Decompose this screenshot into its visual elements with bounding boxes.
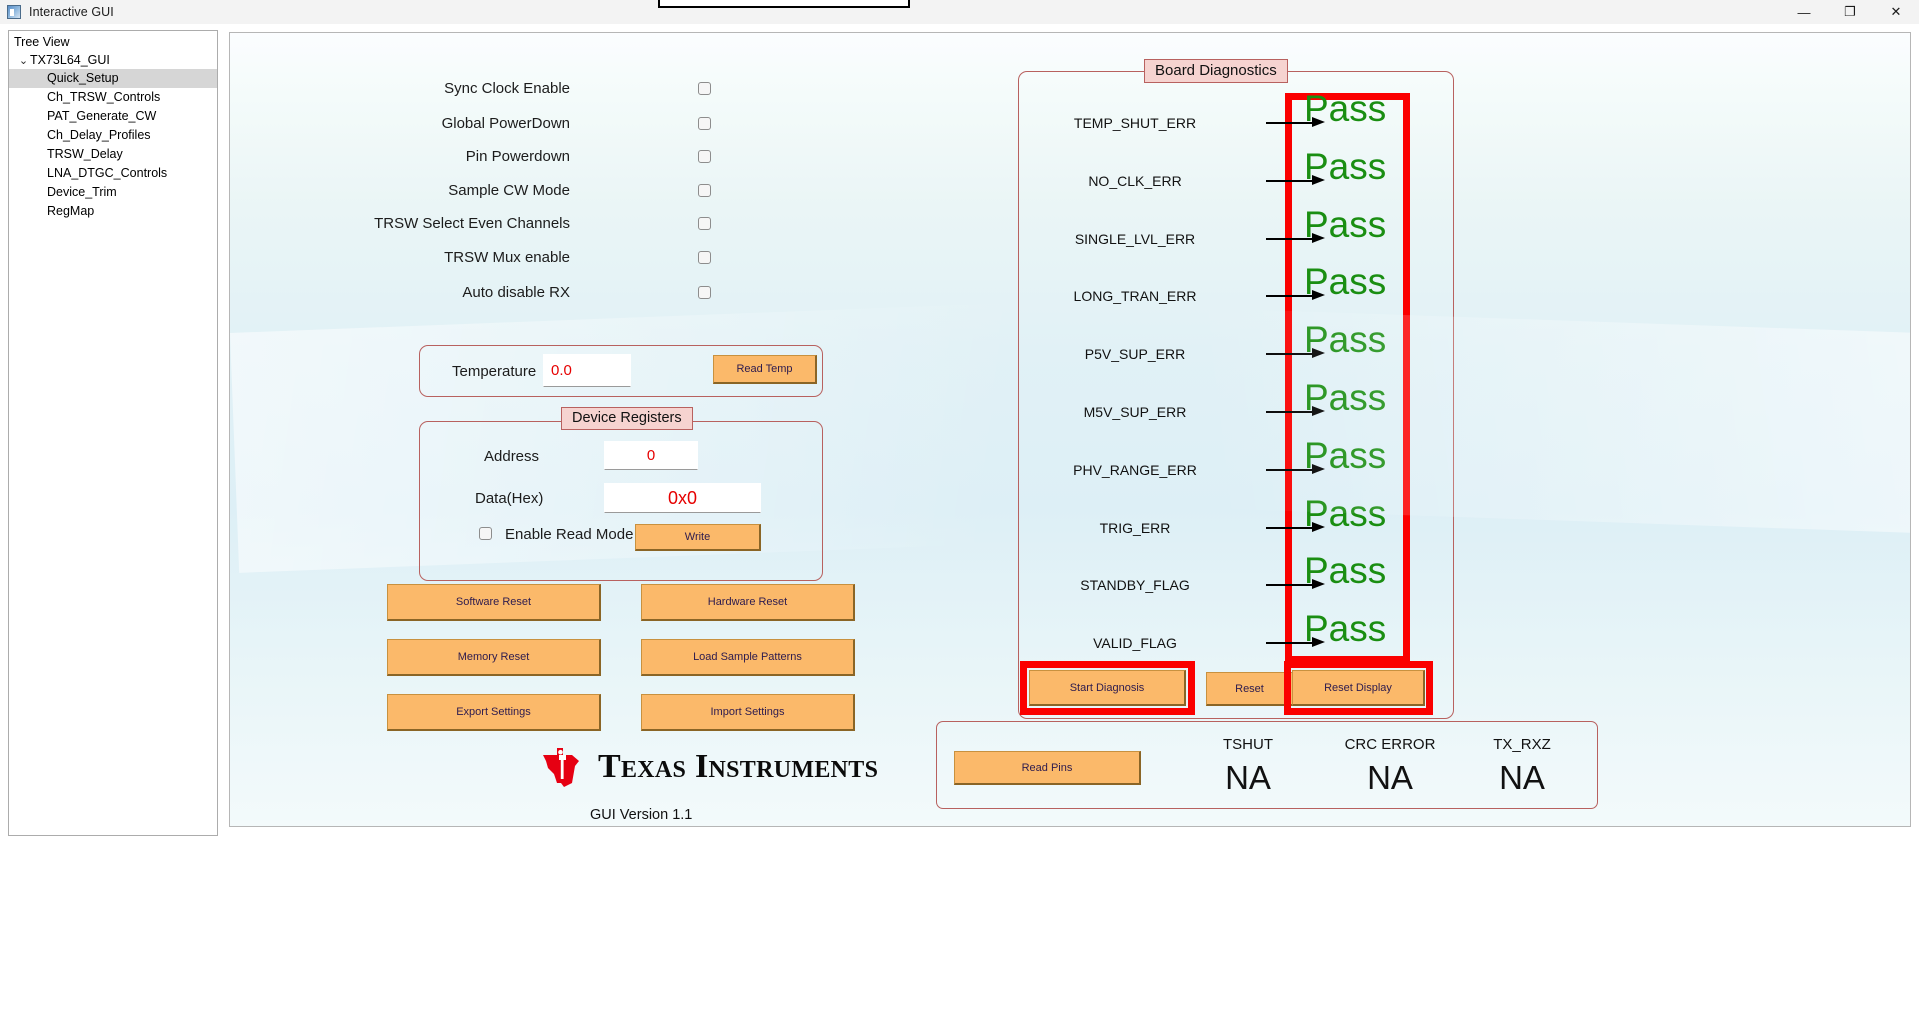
checkbox-label: Sync Clock Enable (230, 80, 570, 97)
diagnostic-name: NO_CLK_ERR (1020, 173, 1250, 189)
address-label: Address (484, 448, 539, 465)
diagnostic-name: VALID_FLAG (1020, 635, 1250, 651)
device-registers-group-label: Device Registers (561, 407, 693, 430)
diagnostic-name: P5V_SUP_ERR (1020, 346, 1250, 362)
checkbox-sample-cw-mode[interactable] (698, 184, 711, 197)
reset-display-button[interactable]: Reset Display (1292, 670, 1425, 706)
sidebar-item-device-trim[interactable]: Device_Trim (9, 183, 217, 202)
checkbox-auto-disable-rx[interactable] (698, 286, 711, 299)
gui-version-label: GUI Version 1.1 (590, 807, 692, 823)
diagnostic-name: M5V_SUP_ERR (1020, 404, 1250, 420)
ti-logo: Texas Instruments (538, 746, 878, 788)
reset-button[interactable]: Reset (1206, 672, 1294, 706)
main-content-panel: Sync Clock EnableGlobal PowerDownPin Pow… (229, 32, 1911, 827)
diagnostic-status: Pass (1304, 379, 1386, 416)
pin-label: CRC ERROR (1320, 736, 1460, 753)
ti-wordmark: Texas Instruments (598, 748, 878, 786)
checkbox-label: TRSW Select Even Channels (230, 215, 570, 232)
pin-value: NA (1452, 761, 1592, 794)
diagnostic-row: VALID_FLAG (1020, 632, 1328, 654)
checkbox-trsw-mux-enable[interactable] (698, 251, 711, 264)
pin-label: TX_RXZ (1452, 736, 1592, 753)
diagnostic-status: Pass (1304, 610, 1386, 647)
tree-root-node[interactable]: ⌄ TX73L64_GUI (9, 51, 217, 69)
checkbox-row: Sync Clock Enable (230, 79, 711, 97)
diagnostic-name: TRIG_ERR (1020, 520, 1250, 536)
checkbox-row: TRSW Select Even Channels (230, 214, 711, 232)
window-title: Interactive GUI (29, 5, 114, 19)
board-diagnostics-group-label: Board Diagnostics (1144, 59, 1288, 83)
sidebar-item-ch-delay-profiles[interactable]: Ch_Delay_Profiles (9, 126, 217, 145)
checkbox-label: Pin Powerdown (230, 148, 570, 165)
read-temp-button[interactable]: Read Temp (713, 355, 817, 384)
diagnostic-name: STANDBY_FLAG (1020, 577, 1250, 593)
checkbox-row: Pin Powerdown (230, 147, 711, 165)
tree-root-label: TX73L64_GUI (30, 53, 110, 67)
minimize-icon[interactable]: — (1781, 0, 1827, 24)
diagnostic-status: Pass (1304, 90, 1386, 127)
address-input[interactable]: 0 (604, 441, 698, 470)
checkbox-row: TRSW Mux enable (230, 248, 711, 266)
diagnostic-row: PHV_RANGE_ERR (1020, 459, 1328, 481)
chevron-down-icon[interactable]: ⌄ (17, 54, 30, 67)
diagnostic-name: LONG_TRAN_ERR (1020, 288, 1250, 304)
checkbox-label: Auto disable RX (230, 284, 570, 301)
diagnostic-status: Pass (1304, 437, 1386, 474)
load-sample-patterns-button[interactable]: Load Sample Patterns (641, 639, 855, 676)
sidebar-item-trsw-delay[interactable]: TRSW_Delay (9, 145, 217, 164)
diagnostic-name: SINGLE_LVL_ERR (1020, 231, 1250, 247)
clipped-top-frame (658, 0, 910, 8)
memory-reset-button[interactable]: Memory Reset (387, 639, 601, 676)
checkbox-row: Global PowerDown (230, 114, 711, 132)
data-hex-input[interactable]: 0x0 (604, 483, 761, 513)
checkbox-trsw-select-even-channels[interactable] (698, 217, 711, 230)
checkbox-label: TRSW Mux enable (230, 249, 570, 266)
pin-value: NA (1178, 761, 1318, 794)
diagnostic-status: Pass (1304, 263, 1386, 300)
write-button[interactable]: Write (635, 524, 761, 551)
sidebar-item-regmap[interactable]: RegMap (9, 202, 217, 221)
diagnostic-row: TRIG_ERR (1020, 517, 1328, 539)
app-icon (7, 5, 21, 19)
diagnostic-row: P5V_SUP_ERR (1020, 343, 1328, 365)
import-settings-button[interactable]: Import Settings (641, 694, 855, 731)
diagnostic-row: NO_CLK_ERR (1020, 170, 1328, 192)
checkbox-pin-powerdown[interactable] (698, 150, 711, 163)
close-icon[interactable]: ✕ (1873, 0, 1919, 24)
maximize-icon[interactable]: ❐ (1827, 0, 1873, 24)
read-pins-button[interactable]: Read Pins (954, 751, 1141, 785)
checkbox-row: Sample CW Mode (230, 181, 711, 199)
tree-view-header: Tree View (9, 33, 217, 51)
tree-item-list: Quick_SetupCh_TRSW_ControlsPAT_Generate_… (9, 69, 217, 221)
start-diagnosis-button[interactable]: Start Diagnosis (1029, 670, 1186, 706)
diagnostic-name: PHV_RANGE_ERR (1020, 462, 1250, 478)
diagnostic-status: Pass (1304, 495, 1386, 532)
sidebar-item-pat-generate-cw[interactable]: PAT_Generate_CW (9, 107, 217, 126)
diagnostic-status: Pass (1304, 552, 1386, 589)
sidebar-item-ch-trsw-controls[interactable]: Ch_TRSW_Controls (9, 88, 217, 107)
enable-read-mode-checkbox[interactable] (479, 527, 492, 540)
temperature-label: Temperature (452, 363, 536, 380)
sidebar-item-quick-setup[interactable]: Quick_Setup (9, 69, 217, 88)
checkbox-label: Global PowerDown (230, 115, 570, 132)
window-titlebar: Interactive GUI — ❐ ✕ (0, 0, 1919, 24)
diagnostic-status: Pass (1304, 148, 1386, 185)
diagnostic-row: SINGLE_LVL_ERR (1020, 228, 1328, 250)
enable-read-mode-label: Enable Read Mode (505, 526, 633, 543)
diagnostic-row: STANDBY_FLAG (1020, 574, 1328, 596)
diagnostic-row: LONG_TRAN_ERR (1020, 285, 1328, 307)
data-hex-label: Data(Hex) (475, 490, 543, 507)
pin-value: NA (1320, 761, 1460, 794)
checkbox-row: Auto disable RX (230, 283, 711, 301)
diagnostic-status: Pass (1304, 321, 1386, 358)
ti-texas-icon (538, 746, 584, 788)
sidebar-item-lna-dtgc-controls[interactable]: LNA_DTGC_Controls (9, 164, 217, 183)
diagnostic-status: Pass (1304, 206, 1386, 243)
tree-view-panel: Tree View ⌄ TX73L64_GUI Quick_SetupCh_TR… (8, 30, 218, 836)
software-reset-button[interactable]: Software Reset (387, 584, 601, 621)
diagnostic-row: TEMP_SHUT_ERR (1020, 112, 1328, 134)
pin-label: TSHUT (1178, 736, 1318, 753)
checkbox-label: Sample CW Mode (230, 182, 570, 199)
diagnostic-row: M5V_SUP_ERR (1020, 401, 1328, 423)
diagnostic-name: TEMP_SHUT_ERR (1020, 115, 1250, 131)
hardware-reset-button[interactable]: Hardware Reset (641, 584, 855, 621)
checkbox-global-powerdown[interactable] (698, 117, 711, 130)
window-controls: — ❐ ✕ (1781, 0, 1919, 24)
temperature-value-field[interactable]: 0.0 (543, 354, 631, 387)
checkbox-sync-clock-enable[interactable] (698, 82, 711, 95)
export-settings-button[interactable]: Export Settings (387, 694, 601, 731)
